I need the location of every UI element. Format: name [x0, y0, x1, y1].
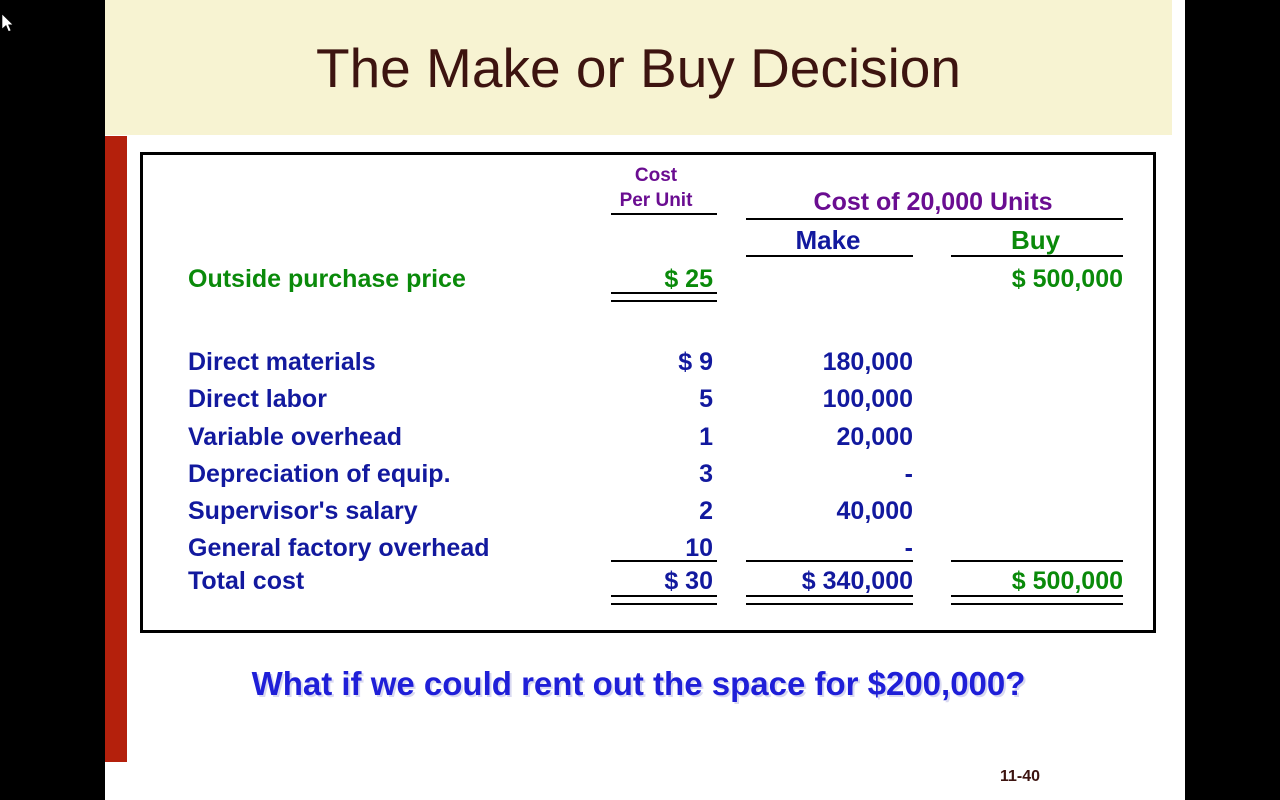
row-make: - — [743, 536, 913, 561]
row-make: 40,000 — [743, 499, 913, 524]
double-rule-total-buy — [951, 595, 1123, 605]
rule-under-make — [746, 255, 913, 257]
row-make: 20,000 — [743, 425, 913, 450]
question-text: What if we could rent out the space for … — [105, 665, 1172, 703]
rule-above-total-buy — [951, 560, 1123, 562]
make-or-buy-table: Cost Per Unit Cost of 20,000 Units Make … — [140, 152, 1156, 633]
row-make: 180,000 — [743, 350, 913, 375]
row-per-unit: 10 — [608, 536, 713, 561]
rule-under-buy — [951, 255, 1123, 257]
row-label: Supervisor's salary — [188, 499, 608, 524]
row-outside-purchase-label: Outside purchase price — [188, 267, 608, 292]
row-make: - — [743, 462, 913, 487]
row-label: Direct materials — [188, 350, 608, 375]
rule-under-cost-of-units — [746, 218, 1123, 220]
row-per-unit: 3 — [608, 462, 713, 487]
header-buy: Buy — [948, 225, 1123, 256]
presentation-slide: The Make or Buy Decision Cost Per Unit C… — [105, 0, 1185, 800]
row-label: Direct labor — [188, 387, 608, 412]
row-make: 100,000 — [743, 387, 913, 412]
rule-above-total-unit — [611, 560, 717, 562]
header-cost-line2: Per Unit — [591, 188, 721, 213]
double-rule-total-unit — [611, 595, 717, 605]
row-per-unit: 5 — [608, 387, 713, 412]
page-number: 11-40 — [1000, 768, 1040, 786]
page-title: The Make or Buy Decision — [105, 0, 1172, 135]
row-per-unit: 2 — [608, 499, 713, 524]
total-row-make: $ 340,000 — [743, 569, 913, 594]
row-label: General factory overhead — [188, 536, 608, 561]
mouse-cursor-icon — [2, 14, 16, 34]
header-cost-per-unit: Cost Per Unit — [591, 163, 721, 213]
double-rule-outside-unit — [611, 292, 717, 302]
row-outside-purchase-buy: $ 500,000 — [948, 267, 1123, 292]
total-row-buy: $ 500,000 — [948, 569, 1123, 594]
header-cost-of-units: Cost of 20,000 Units — [743, 188, 1123, 217]
row-outside-purchase-unit: $ 25 — [608, 267, 713, 292]
rule-under-per-unit — [611, 213, 717, 215]
rule-above-total-make — [746, 560, 913, 562]
title-band: The Make or Buy Decision — [105, 0, 1172, 135]
row-label: Depreciation of equip. — [188, 462, 608, 487]
total-row-label: Total cost — [188, 569, 608, 594]
row-per-unit: $ 9 — [608, 350, 713, 375]
header-make: Make — [743, 225, 913, 256]
total-row-per-unit: $ 30 — [608, 569, 713, 594]
row-label: Variable overhead — [188, 425, 608, 450]
double-rule-total-make — [746, 595, 913, 605]
header-cost-line1: Cost — [591, 163, 721, 188]
row-per-unit: 1 — [608, 425, 713, 450]
